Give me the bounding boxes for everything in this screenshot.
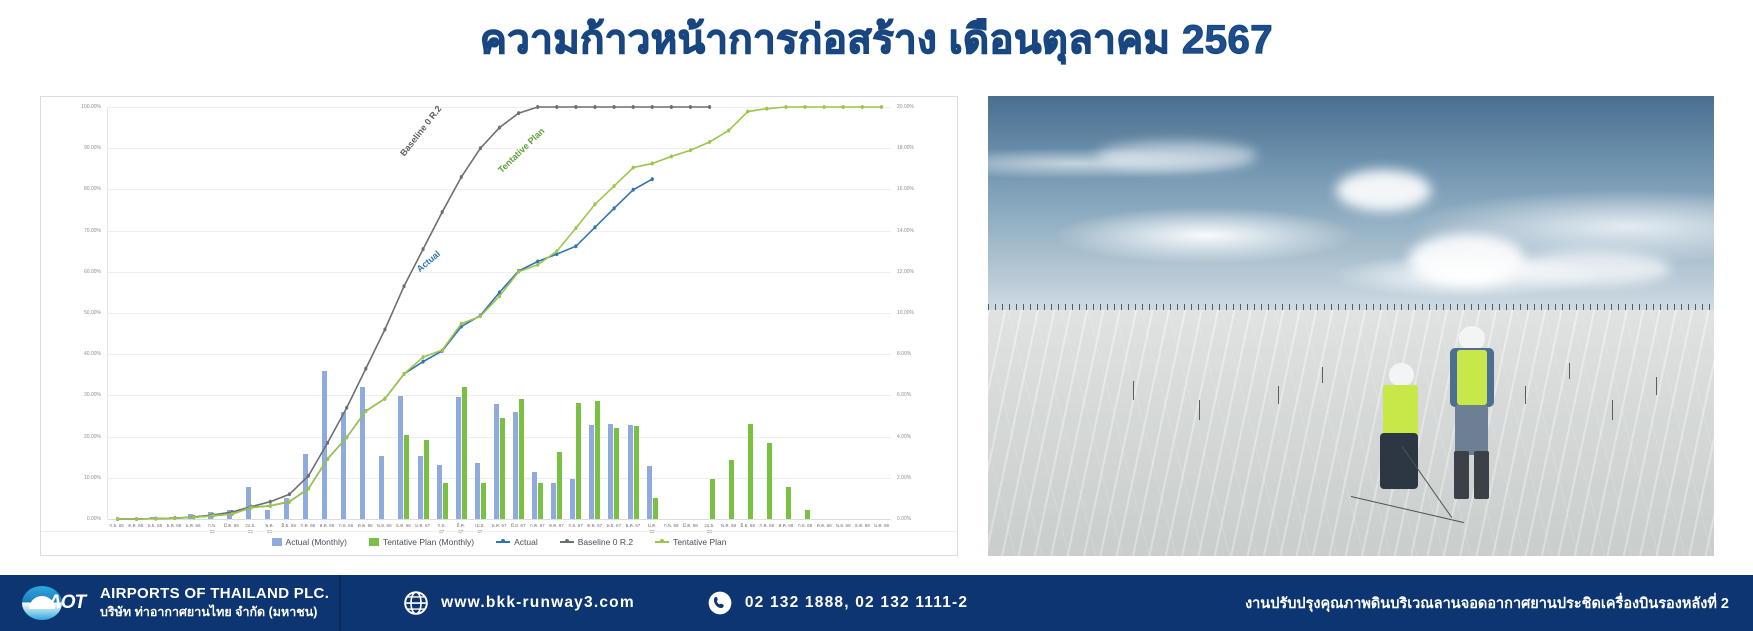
line-marker [517, 270, 520, 274]
line-marker [651, 177, 654, 181]
page-title: ความก้าวหน้าการก่อสร้าง เดือนตุลาคม 2567 [480, 7, 1273, 71]
brand-name-en: AIRPORTS OF THAILAND PLC. [100, 585, 329, 602]
line-marker [574, 226, 577, 230]
line-marker [479, 146, 482, 150]
legend-swatch [496, 541, 510, 543]
line-marker [765, 107, 768, 111]
cloud-shape [1336, 170, 1430, 211]
legend-label: Actual (Monthly) [286, 537, 347, 547]
ground-stake [1525, 386, 1526, 404]
y-axis-left: 100.00%90.00%80.00%70.00%60.00%50.00%40.… [47, 107, 105, 519]
y-tick-right: 4.00% [897, 434, 911, 440]
line-marker [211, 514, 214, 518]
y-tick-left: 10.00% [84, 475, 101, 481]
worker-legs [1455, 405, 1488, 455]
helmet-icon [1389, 363, 1414, 387]
site-photo-panel [988, 96, 1714, 556]
line-marker [651, 105, 654, 109]
line-marker [593, 225, 596, 229]
footer-brand-text: AIRPORTS OF THAILAND PLC. บริษัท ท่าอากา… [100, 585, 329, 622]
phone-text: 02 132 1888, 02 132 1111-2 [745, 594, 968, 612]
line-marker [708, 105, 711, 109]
line-marker [154, 517, 157, 521]
plot-area: Baseline 0 R.2 Tentative Plan Actual [107, 107, 891, 519]
legend-swatch [369, 538, 379, 546]
y-tick-left: 70.00% [84, 228, 101, 234]
line-marker [632, 166, 635, 170]
y-tick-left: 40.00% [84, 351, 101, 357]
line-marker [574, 105, 577, 109]
geotextile-texture [988, 310, 1714, 556]
y-tick-right: 10.00% [897, 310, 914, 316]
line-marker [670, 154, 673, 158]
helmet-icon [1459, 326, 1485, 350]
legend-swatch [655, 541, 669, 543]
line-marker [326, 441, 329, 445]
y-tick-right: 8.00% [897, 351, 911, 357]
line-marker [345, 406, 348, 410]
line-marker [593, 202, 596, 206]
ground-stake [1569, 363, 1570, 379]
line-marker [536, 105, 539, 109]
line-marker [460, 322, 463, 326]
line-marker [861, 105, 864, 109]
line-marker [422, 355, 425, 359]
chart-legend: Actual (Monthly)Tentative Plan (Monthly)… [41, 531, 957, 547]
line-marker [192, 515, 195, 519]
line-actual [118, 179, 653, 519]
line-marker [269, 504, 272, 508]
line-marker [307, 474, 310, 478]
y-tick-right: 6.00% [897, 392, 911, 398]
legend-label: Actual [514, 537, 538, 547]
ground-stake [1133, 381, 1134, 399]
aot-logo-icon: AOT [22, 584, 88, 622]
line-marker [803, 105, 806, 109]
y-tick-left: 30.00% [84, 392, 101, 398]
line-marker [632, 105, 635, 109]
line-marker [498, 126, 501, 130]
line-marker [613, 105, 616, 109]
line-marker [269, 500, 272, 504]
website-text: www.bkk-runway3.com [441, 594, 635, 612]
y-tick-left: 20.00% [84, 434, 101, 440]
ground-stake [1199, 400, 1200, 421]
line-marker [670, 105, 673, 109]
line-marker [231, 512, 234, 516]
line-marker [441, 348, 444, 352]
line-marker [574, 244, 577, 248]
legend-item[interactable]: Actual [496, 537, 538, 547]
line-marker [708, 140, 711, 144]
line-marker [364, 367, 367, 371]
line-marker [842, 105, 845, 109]
line-marker [555, 105, 558, 109]
legend-item[interactable]: Baseline 0 R.2 [560, 537, 633, 547]
y-tick-left: 80.00% [84, 186, 101, 192]
line-marker [823, 105, 826, 109]
line-marker [460, 175, 463, 179]
line-marker [517, 111, 520, 115]
line-marker [288, 500, 291, 504]
line-marker [632, 188, 635, 192]
line-marker [402, 372, 405, 376]
y-tick-left: 50.00% [84, 310, 101, 316]
line-marker [593, 105, 596, 109]
y-tick-right: 20.00% [897, 104, 914, 110]
worker-boot [1454, 451, 1470, 499]
y-tick-left: 60.00% [84, 269, 101, 275]
line-marker [364, 409, 367, 413]
line-marker [383, 397, 386, 401]
ground-stake [1612, 400, 1613, 421]
footer-website[interactable]: www.bkk-runway3.com [403, 590, 635, 616]
line-marker [383, 327, 386, 331]
legend-label: Tentative Plan (Monthly) [383, 537, 474, 547]
line-marker [288, 492, 291, 496]
cloud-shape [1511, 252, 1671, 284]
site-photo [988, 96, 1714, 556]
safety-vest [1457, 350, 1487, 405]
line-marker [613, 206, 616, 210]
page-title-bar: ความก้าวหน้าการก่อสร้าง เดือนตุลาคม 2567 [0, 8, 1753, 70]
line-marker [441, 210, 444, 214]
line-marker [402, 284, 405, 288]
y-tick-right: 12.00% [897, 269, 914, 275]
legend-item[interactable]: Tentative Plan (Monthly) [369, 537, 474, 547]
cloud-shape [1409, 234, 1525, 285]
brand-name-th: บริษัท ท่าอากาศยานไทย จำกัด (มหาชน) [100, 602, 329, 622]
y-tick-right: 18.00% [897, 145, 914, 151]
legend-label: Tentative Plan [673, 537, 726, 547]
plot-wrapper: 100.00%90.00%80.00%70.00%60.00%50.00%40.… [41, 97, 957, 555]
line-marker [784, 105, 787, 109]
legend-item[interactable]: Actual (Monthly) [272, 537, 347, 547]
line-marker [422, 247, 425, 251]
cloud-shape [1097, 142, 1257, 170]
page-footer: AOT AIRPORTS OF THAILAND PLC. บริษัท ท่า… [0, 575, 1753, 631]
line-marker [746, 110, 749, 114]
safety-vest [1383, 385, 1418, 438]
worker-boot [1474, 451, 1490, 499]
footer-divider [339, 575, 341, 631]
phone-icon [707, 590, 733, 616]
photo-sky [988, 96, 1714, 321]
line-marker [498, 294, 501, 298]
line-marker [880, 105, 883, 109]
footer-phone[interactable]: 02 132 1888, 02 132 1111-2 [707, 590, 968, 616]
y-tick-right: 2.00% [897, 475, 911, 481]
y-tick-left: 90.00% [84, 145, 101, 151]
line-marker [479, 314, 482, 318]
ground-stake [1322, 367, 1323, 383]
worker-kneeling [1366, 363, 1446, 510]
line-marker [555, 249, 558, 253]
ground-stake [1278, 386, 1279, 404]
line-marker [689, 105, 692, 109]
line-marker [326, 457, 329, 461]
legend-swatch [560, 541, 574, 543]
legend-item[interactable]: Tentative Plan [655, 537, 726, 547]
line-marker [536, 263, 539, 267]
legend-label: Baseline 0 R.2 [578, 537, 633, 547]
line-marker [613, 184, 616, 188]
footer-brand: AOT AIRPORTS OF THAILAND PLC. บริษัท ท่า… [0, 584, 329, 622]
y-tick-right: 16.00% [897, 186, 914, 192]
line-marker [727, 128, 730, 132]
aot-wordmark: AOT [48, 592, 85, 614]
line-baseline-0-r-2 [118, 107, 710, 519]
line-marker [422, 360, 425, 364]
line-marker [250, 505, 253, 509]
globe-icon [403, 590, 429, 616]
line-marker [689, 148, 692, 152]
gridline [108, 519, 891, 520]
line-marker [307, 487, 310, 491]
y-tick-left: 0.00% [87, 516, 101, 522]
line-marker [651, 161, 654, 165]
progress-chart-panel: 100.00%90.00%80.00%70.00%60.00%50.00%40.… [40, 96, 958, 556]
y-axis-right: 20.00%18.00%16.00%14.00%12.00%10.00%8.00… [893, 107, 951, 519]
line-marker [345, 435, 348, 439]
project-title: งานปรับปรุงคุณภาพดินบริเวณลานจอดอากาศยาน… [1245, 592, 1753, 615]
line-marker [173, 516, 176, 520]
ground-stake [1656, 377, 1657, 395]
y-tick-right: 0.00% [897, 516, 911, 522]
legend-swatch [272, 538, 282, 546]
y-tick-right: 14.00% [897, 228, 914, 234]
y-tick-left: 100.00% [81, 104, 101, 110]
